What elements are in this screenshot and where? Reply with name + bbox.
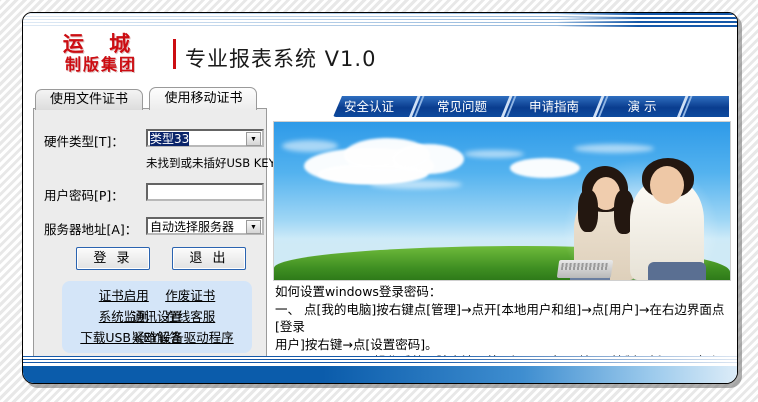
server-address-row: 服务器地址[A]： 自动选择服务器 ▼ — [34, 219, 266, 239]
nav-separator-icon — [673, 96, 695, 117]
nav-item-guide[interactable]: 申请指南 — [519, 96, 589, 117]
quick-links-row: 下载USB KEY设备驱动程序 — [62, 327, 252, 348]
hardware-type-label: 硬件类型[T]： — [44, 131, 124, 150]
top-navigation: 安全认证 常见问题 申请指南 演 示 功能介绍 — [333, 96, 729, 117]
nav-separator-icon — [405, 96, 427, 117]
login-panel: 硬件类型[T]： 类型33 ▼ 未找到或未插好USB KEY 用户密码[P]： … — [33, 108, 267, 358]
quick-links-row: 证书启用 作废证书 通讯设置 — [62, 285, 252, 306]
usb-key-warning: 未找到或未插好USB KEY — [146, 155, 276, 171]
company-logo: 运 城 制版集团 — [41, 33, 161, 74]
link-revoke-certificate[interactable]: 作废证书 — [165, 285, 215, 306]
footer-bar — [23, 366, 737, 383]
man-jeans — [648, 262, 706, 280]
nav-item-faq[interactable]: 常见问题 — [427, 96, 497, 117]
cloud-shape — [464, 150, 524, 158]
woman-hair-left — [578, 190, 598, 232]
hardware-type-row: 硬件类型[T]： 类型33 ▼ — [34, 131, 266, 151]
banner-image — [273, 121, 731, 281]
password-field[interactable] — [146, 183, 264, 201]
hardware-type-select[interactable]: 类型33 ▼ — [146, 129, 264, 147]
laptop-icon — [557, 260, 614, 278]
exit-button[interactable]: 退 出 — [172, 247, 246, 270]
link-enable-certificate[interactable]: 证书启用 — [99, 285, 149, 306]
link-system-monitor[interactable]: 系统监测 — [99, 306, 149, 327]
couple-with-laptop-photo — [552, 122, 730, 280]
page-title: 专业报表系统 V1.0 — [185, 43, 376, 73]
chevron-down-icon[interactable]: ▼ — [246, 220, 261, 234]
link-online-support[interactable]: 在线客服 — [165, 306, 215, 327]
nav-separator-icon — [497, 96, 519, 117]
man-face — [650, 166, 684, 204]
cloud-shape — [282, 140, 338, 152]
tab-mobile-certificate[interactable]: 使用移动证书 — [149, 87, 257, 110]
password-label: 用户密码[P]： — [44, 185, 124, 204]
hardware-type-value: 类型33 — [150, 132, 189, 146]
help-line-2: 用户]按右键→点[设置密码]。 — [275, 336, 727, 354]
title-divider — [173, 39, 176, 69]
quick-links-panel: 证书启用 作废证书 通讯设置 系统监测 在线客服 疑难解答 下载USB KEY设… — [62, 281, 252, 353]
quick-links-row: 系统监测 在线客服 疑难解答 — [62, 306, 252, 327]
nav-separator-icon — [589, 96, 611, 117]
help-text-block: 如何设置windows登录密码： 一、 点[我的电脑]按右键点[管理]→点开[本… — [275, 283, 727, 355]
cloud-shape — [370, 180, 462, 189]
server-address-value: 自动选择服务器 — [150, 220, 234, 234]
chevron-down-icon[interactable]: ▼ — [246, 132, 261, 146]
help-line-1: 一、 点[我的电脑]按右键点[管理]→点开[本地用户和组]→点[用户]→在右边界… — [275, 301, 727, 336]
header: 运 城 制版集团 专业报表系统 V1.0 — [23, 13, 737, 87]
server-address-label: 服务器地址[A]： — [44, 219, 137, 238]
footer — [23, 356, 737, 383]
logo-line-2: 制版集团 — [41, 55, 161, 74]
header-stripe-pattern-blue — [557, 13, 737, 28]
password-row: 用户密码[P]： — [34, 185, 266, 205]
help-heading: 如何设置windows登录密码： — [275, 283, 727, 301]
server-address-select[interactable]: 自动选择服务器 ▼ — [146, 217, 264, 235]
link-download-usb-driver[interactable]: 下载USB KEY设备驱动程序 — [80, 327, 233, 348]
nav-item-security[interactable]: 安全认证 — [333, 96, 405, 117]
application-window: 运 城 制版集团 专业报表系统 V1.0 使用文件证书 使用移动证书 安全认证 … — [22, 12, 738, 384]
login-button[interactable]: 登 录 — [76, 247, 150, 270]
certificate-tabbar: 使用文件证书 使用移动证书 — [35, 87, 259, 109]
tab-file-certificate[interactable]: 使用文件证书 — [35, 89, 143, 110]
logo-line-1: 运 城 — [41, 33, 161, 55]
nav-item-demo[interactable]: 演 示 — [611, 96, 673, 117]
footer-stripe-pattern — [23, 356, 737, 365]
